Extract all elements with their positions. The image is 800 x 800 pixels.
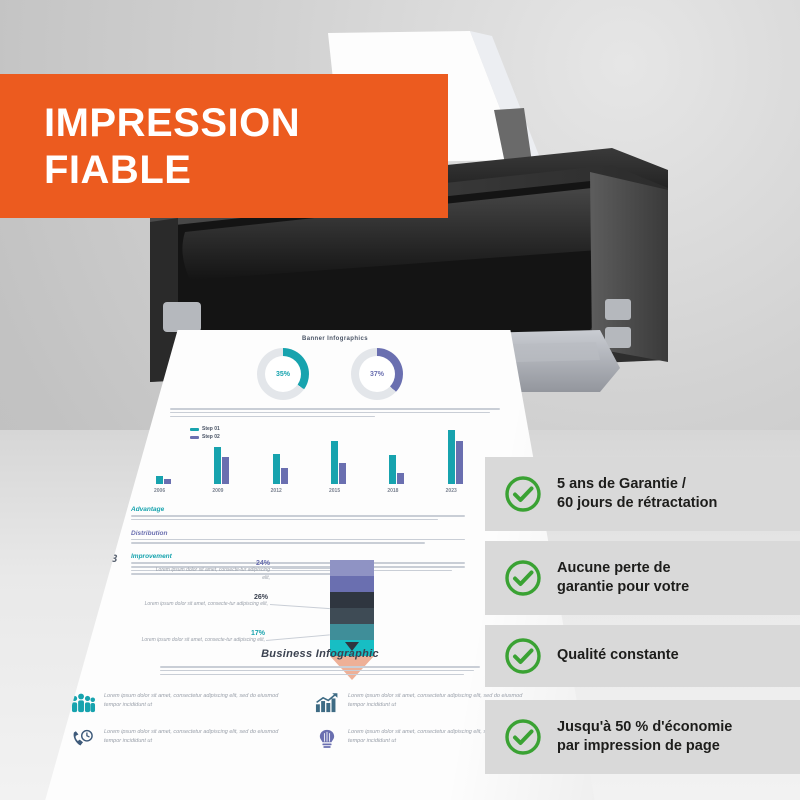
headline-banner: IMPRESSION FIABLE xyxy=(0,74,448,218)
feature-card[interactable]: Jusqu'à 50 % d'économiepar impression de… xyxy=(485,700,800,774)
printer-button-right-bottom[interactable] xyxy=(605,327,631,348)
headline-line-2: FIABLE xyxy=(44,147,300,194)
page-title: IMPRESSION FIABLE xyxy=(44,100,300,194)
feature-card[interactable]: Aucune perte degarantie pour votre xyxy=(485,541,800,615)
check-circle-icon xyxy=(503,636,543,676)
feature-card-text: Qualité constante xyxy=(557,646,679,665)
printer-button-left[interactable] xyxy=(163,302,201,332)
feature-card-text: Jusqu'à 50 % d'économiepar impression de… xyxy=(557,718,732,756)
check-circle-icon xyxy=(503,558,543,598)
headline-line-1: IMPRESSION xyxy=(44,101,300,145)
check-circle-icon xyxy=(503,474,543,514)
check-circle-icon xyxy=(503,717,543,757)
feature-card-text: 5 ans de Garantie /60 jours de rétractat… xyxy=(557,475,717,513)
feature-card-text: Aucune perte degarantie pour votre xyxy=(557,559,689,597)
feature-card[interactable]: 5 ans de Garantie /60 jours de rétractat… xyxy=(485,457,800,531)
printer-button-right-top[interactable] xyxy=(605,299,631,320)
feature-card[interactable]: Qualité constante xyxy=(485,625,800,687)
poster-canvas: Banner Infographics 35% 37% Step 01 xyxy=(0,0,800,800)
